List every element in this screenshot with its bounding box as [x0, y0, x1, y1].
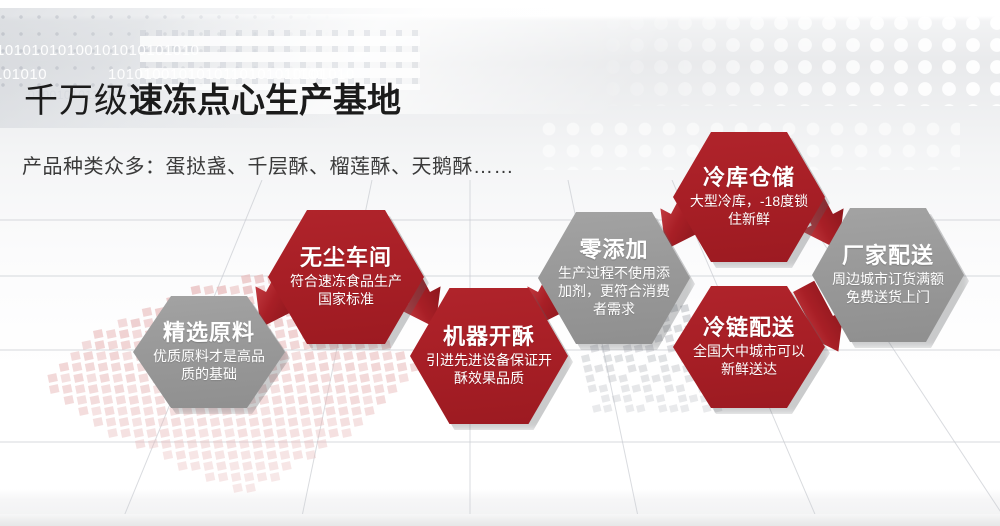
binary-text-4: 10101010 — [284, 66, 355, 83]
step-title: 精选原料 — [163, 320, 255, 345]
binary-text-2: 101010 — [0, 66, 47, 83]
step-description: 大型冷库，-18度锁住新鲜 — [689, 193, 809, 229]
page-title-main: 速冻点心生产基地 — [129, 82, 401, 120]
step-title: 厂家配送 — [842, 243, 934, 268]
page-subtitle: 产品种类众多：蛋挞盏、千层酥、榴莲酥、天鹅酥…… — [22, 150, 514, 179]
step-title: 零添加 — [579, 237, 648, 262]
binary-text-1: 10101010100101010101010 — [0, 42, 199, 59]
step-title: 冷库仓储 — [703, 165, 795, 190]
step-description: 全国大中城市可以新鲜送达 — [689, 343, 809, 379]
step-description: 优质原料才是高品质的基础 — [149, 348, 269, 384]
step-title: 无尘车间 — [300, 245, 392, 270]
background-dot-halftone — [580, 14, 1000, 106]
page-title: 千万级速冻点心生产基地 — [24, 84, 401, 118]
bottom-strip — [0, 514, 1000, 526]
step-description: 符合速冻食品生产国家标准 — [284, 273, 408, 309]
page-title-prefix: 千万级 — [24, 82, 129, 120]
step-title: 机器开酥 — [443, 324, 535, 349]
step-description: 周边城市订货满额免费送货上门 — [828, 271, 948, 307]
infographic-canvas: 10101010100101010101010 101010 101010010… — [0, 0, 1000, 526]
step-description: 生产过程不使用添加剂，更符合消费者需求 — [554, 265, 674, 319]
step-description: 引进先进设备保证开酥效果品质 — [426, 352, 552, 388]
step-title: 冷链配送 — [703, 315, 795, 340]
